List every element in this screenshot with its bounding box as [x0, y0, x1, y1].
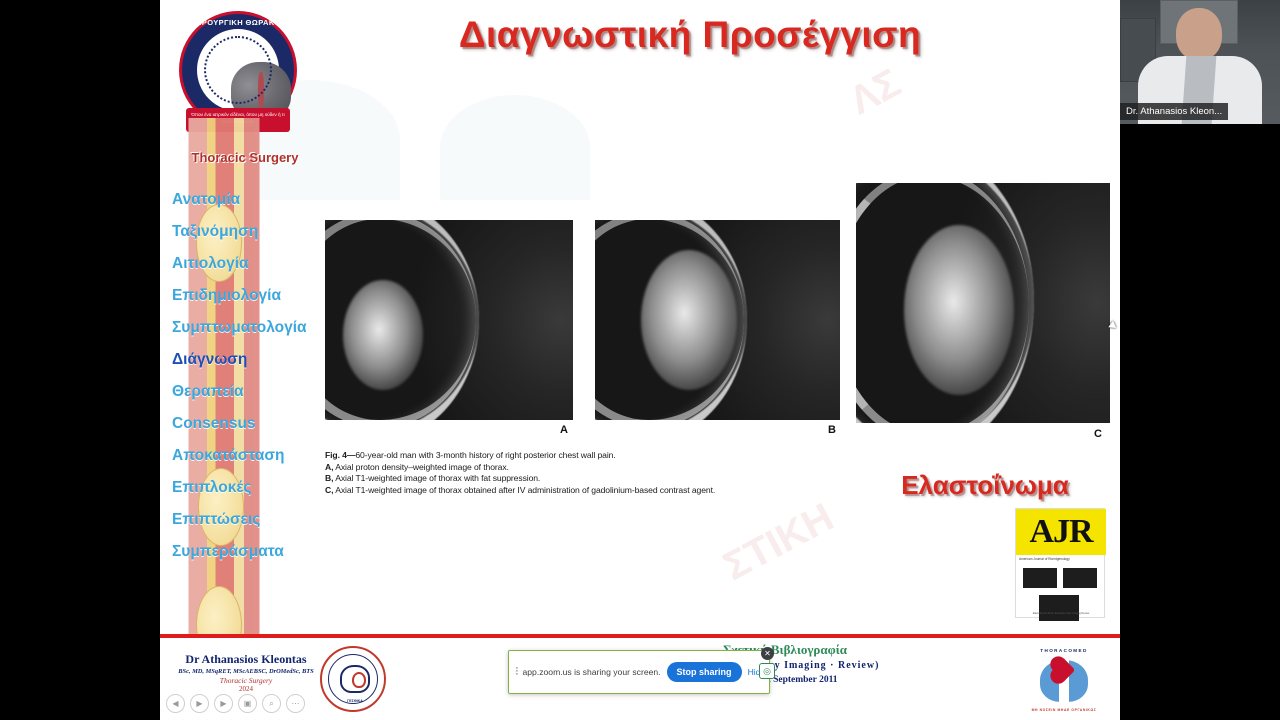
- mri-label-b: B: [828, 424, 836, 436]
- menu-item-apokatastasi[interactable]: Αποκατάσταση: [168, 448, 348, 464]
- webcam-video-tile[interactable]: Dr. Athanasios Kleon...: [1120, 0, 1280, 124]
- menu-item-therapeia[interactable]: Θεραπεία: [168, 384, 348, 400]
- thoracomed-logo: THORACOMED ΜΗ ΝΟΣΕΙΝ ΜΗΔΕ ΟΡΓΑΝΙΚΩΣ: [1028, 646, 1100, 714]
- author-year: 2024: [166, 685, 326, 693]
- ajr-footer-text: Elastofibroma Dorsi: Extrapulmonary Imag…: [1020, 612, 1102, 615]
- next-slide-icon[interactable]: ▶: [214, 694, 233, 713]
- caption-text-a: Axial proton density–weighted image of t…: [333, 462, 508, 472]
- ajr-thumbnails: [1022, 567, 1100, 627]
- menu-item-consensus[interactable]: Consensus: [168, 416, 348, 432]
- close-icon[interactable]: ✕: [761, 647, 774, 660]
- mri-panel-b: [595, 220, 840, 420]
- soft-tissue-mass: [343, 280, 423, 390]
- zoom-icon[interactable]: ⌕: [262, 694, 281, 713]
- menu-item-taxinomisi[interactable]: Ταξινόμηση: [168, 224, 348, 240]
- menu-item-symperasmata[interactable]: Συμπεράσματα: [168, 544, 348, 560]
- pdf-navigation-controls[interactable]: ◀ ▶ ▶ ▣ ⌕ ⋯: [166, 694, 316, 713]
- menu-item-epiplokes[interactable]: Επιπλοκές: [168, 480, 348, 496]
- author-name: Dr Athanasios Kleontas: [166, 652, 326, 667]
- heart-lungs-icon: [340, 665, 370, 693]
- academy-bottom-text: ΓΕΣΘΙΚΑ: [322, 699, 388, 703]
- drag-handle-icon[interactable]: ⫶⫶: [515, 666, 517, 679]
- enhancing-mass: [904, 225, 1014, 395]
- soft-tissue-mass: [641, 250, 737, 390]
- academy-logo: ΓΕΣΘΙΚΑ: [320, 646, 386, 712]
- caption-line-title: Fig. 4—60-year-old man with 3-month hist…: [325, 450, 945, 462]
- menu-item-epiptoseis[interactable]: Επιπτώσεις: [168, 512, 348, 528]
- caption-line-b: B, Axial T1-weighted image of thorax wit…: [325, 473, 945, 485]
- mri-panel-c: [856, 183, 1110, 423]
- menu-item-diagnosi[interactable]: Διάγνωση: [168, 352, 348, 368]
- caption-title-text: 60-year-old man with 3-month history of …: [355, 450, 615, 460]
- thoracomed-top-text: THORACOMED: [1028, 648, 1100, 653]
- presentation-slide: ΛΣ ΣΤΙΚΗ ΧΕΙΡΟΥΡΓΙΚΗ ΘΩΡΑΚΟΣ Όπου ένα ια…: [160, 0, 1120, 720]
- participant-name-label: Dr. Athanasios Kleon...: [1120, 103, 1228, 120]
- ajr-thumb: [1023, 568, 1057, 588]
- author-credentials: BSc, MD, MSqRET, MScAEBSC, DrOMedSc, BTS: [166, 668, 326, 675]
- thoracomed-bottom-text: ΜΗ ΝΟΣΕΙΝ ΜΗΔΕ ΟΡΓΑΝΙΚΩΣ: [1028, 708, 1100, 712]
- prev-slide-icon[interactable]: ◀: [166, 694, 185, 713]
- more-options-icon[interactable]: ⋯: [286, 694, 305, 713]
- figure-caption: Fig. 4—60-year-old man with 3-month hist…: [325, 450, 945, 496]
- watermark-text: ΛΣ: [842, 61, 908, 125]
- caption-line-c: C, Axial T1-weighted image of thorax obt…: [325, 485, 945, 497]
- emblem-ring: [194, 26, 282, 114]
- caption-text-c: Axial T1-weighted image of thorax obtain…: [333, 485, 715, 495]
- menu-item-aitiologia[interactable]: Αιτιολογία: [168, 256, 348, 272]
- slide-title: Διαγνωστική Προσέγγιση: [340, 14, 1040, 56]
- ajr-thumb: [1039, 595, 1079, 621]
- ajr-logo-text: AJR: [1029, 513, 1092, 551]
- caption-fig-number: Fig. 4—: [325, 450, 355, 460]
- mri-label-c: C: [1094, 428, 1102, 440]
- mri-panel-a: [325, 220, 573, 420]
- stop-sharing-button[interactable]: Stop sharing: [667, 662, 742, 682]
- menu-item-symptomatologia[interactable]: Συμπτωματολογία: [168, 320, 348, 336]
- author-specialty: Thoracic Surgery: [166, 676, 326, 685]
- author-block: Dr Athanasios Kleontas BSc, MD, MSqRET, …: [166, 652, 326, 693]
- caption-text-b: Axial T1-weighted image of thorax with f…: [333, 473, 540, 483]
- menu-item-anatomia[interactable]: Ανατομία: [168, 192, 348, 208]
- share-message: app.zoom.us is sharing your screen.: [523, 667, 661, 677]
- diagnosis-label: Ελαστοΐνωμα: [860, 470, 1110, 501]
- ajr-journal-cover: AJR American Journal of Roentgenology El…: [1015, 508, 1105, 618]
- play-icon[interactable]: ▶: [190, 694, 209, 713]
- ajr-logo-band: AJR: [1016, 509, 1106, 555]
- presenter-head: [1176, 8, 1222, 60]
- screen-root: ΛΣ ΣΤΙΚΗ ΧΕΙΡΟΥΡΓΙΚΗ ΘΩΡΑΚΟΣ Όπου ένα ια…: [0, 0, 1280, 720]
- caption-line-a: A, Axial proton density–weighted image o…: [325, 462, 945, 474]
- screen-share-notification-bar[interactable]: ⫶⫶ app.zoom.us is sharing your screen. S…: [508, 650, 770, 694]
- watermark-shape: [440, 95, 590, 200]
- mri-label-a: A: [560, 424, 568, 436]
- menu-item-epidimiologia[interactable]: Επιδημιολογία: [168, 288, 348, 304]
- brand-label: Thoracic Surgery: [170, 150, 320, 165]
- slide-nav-menu: Ανατομία Ταξινόμηση Αιτιολογία Επιδημιολ…: [168, 192, 348, 576]
- watermark-text: ΣΤΙΚΗ: [716, 495, 841, 590]
- ajr-thumb: [1063, 568, 1097, 588]
- slides-grid-icon[interactable]: ▣: [238, 694, 257, 713]
- recording-badge-icon[interactable]: ◎: [759, 663, 775, 679]
- ajr-subtitle: American Journal of Roentgenology: [1019, 557, 1103, 561]
